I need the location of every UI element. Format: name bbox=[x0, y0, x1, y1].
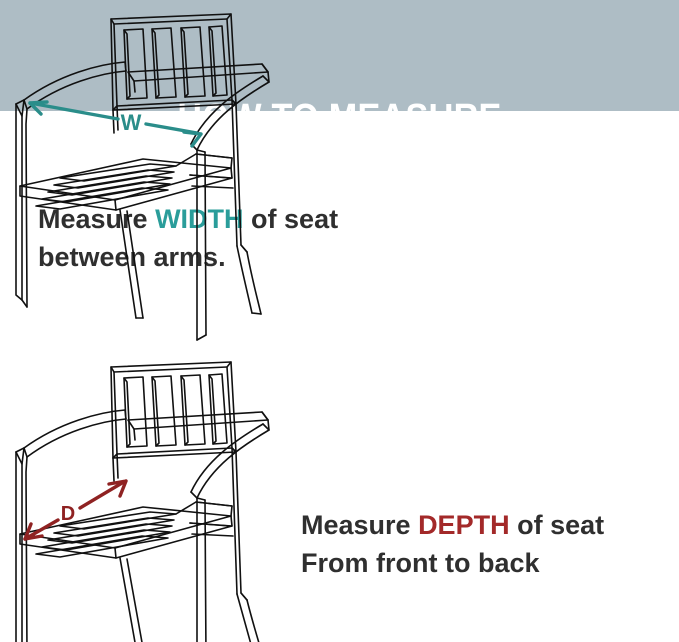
chair-back-right-leg bbox=[237, 594, 261, 642]
chair-seat bbox=[20, 159, 232, 210]
width-measure-label: W bbox=[121, 110, 142, 135]
width-chair-illustration: W bbox=[0, 0, 275, 348]
chair-left-arm bbox=[16, 410, 126, 642]
chair-front-right-leg bbox=[197, 150, 206, 340]
depth-caption: Measure DEPTH of seat From front to back bbox=[301, 506, 604, 582]
chair-backrest bbox=[111, 14, 236, 110]
depth-keyword: DEPTH bbox=[418, 510, 510, 540]
chair-front-leg-center bbox=[120, 210, 143, 318]
depth-measure-label: D bbox=[61, 503, 75, 525]
chair-left-arm bbox=[16, 62, 126, 307]
chair-backrest bbox=[111, 362, 236, 458]
depth-chair-illustration: D bbox=[0, 348, 275, 642]
chair-back-legs bbox=[113, 448, 247, 600]
seat-slat-1 bbox=[60, 512, 176, 529]
chair-right-arm bbox=[128, 412, 269, 498]
depth-caption-prefix: Measure bbox=[301, 510, 418, 540]
chair-back-right-leg bbox=[237, 246, 261, 314]
infographic-canvas: HOW TO MEASURE YOUR FURNITURE Measure WI… bbox=[0, 0, 679, 642]
chair-front-leg-center bbox=[120, 558, 143, 642]
chair-front-right-leg bbox=[197, 498, 206, 642]
width-chair-svg: W bbox=[0, 0, 275, 348]
depth-caption-line-2: From front to back bbox=[301, 548, 540, 578]
chair-seat bbox=[20, 507, 232, 558]
depth-chair-svg: D bbox=[0, 348, 275, 642]
seat-slat-1 bbox=[60, 164, 176, 181]
depth-caption-suffix: of seat bbox=[510, 510, 605, 540]
